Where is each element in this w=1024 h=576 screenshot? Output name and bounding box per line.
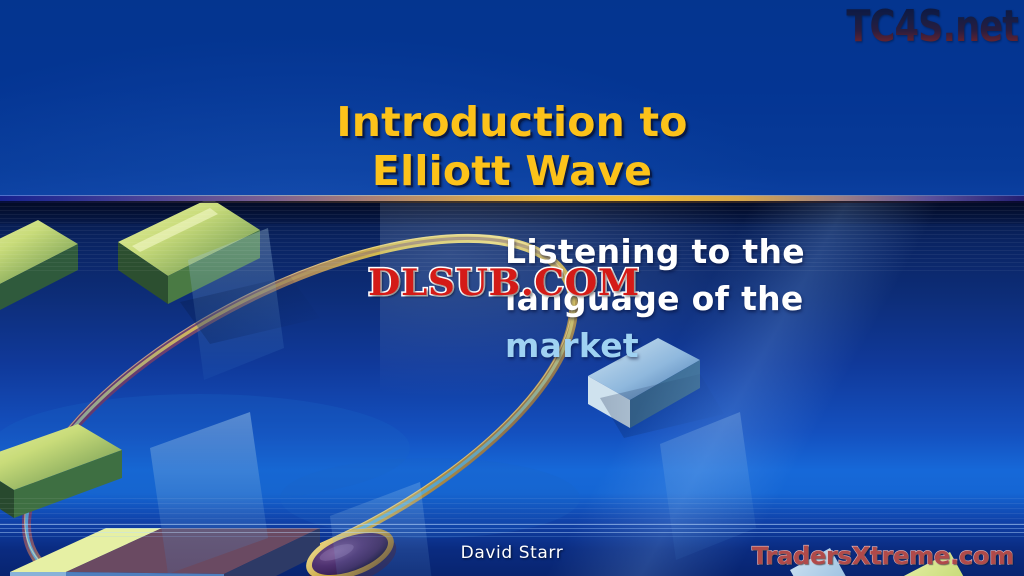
graphic-glass (660, 412, 756, 560)
hairline-rule (0, 536, 1024, 537)
subtitle-line-3: market (505, 322, 890, 369)
hairline-rule (0, 528, 1024, 529)
hairline-rule (0, 532, 1024, 533)
title-line-2: Elliott Wave (0, 147, 1024, 196)
divider-shadow (0, 201, 1024, 203)
page-title: Introduction to Elliott Wave (0, 98, 1024, 196)
graphic-block (0, 220, 78, 310)
tc4s-logo[interactable]: TC4S.net (846, 2, 1018, 52)
hairline-rule (0, 524, 1024, 525)
presentation-slide: Introduction to Elliott Wave Listening t… (0, 0, 1024, 576)
author-name: David Starr (0, 543, 1024, 563)
dlsub-watermark: DLSUB.COM (368, 262, 640, 304)
title-line-1: Introduction to (0, 98, 1024, 147)
